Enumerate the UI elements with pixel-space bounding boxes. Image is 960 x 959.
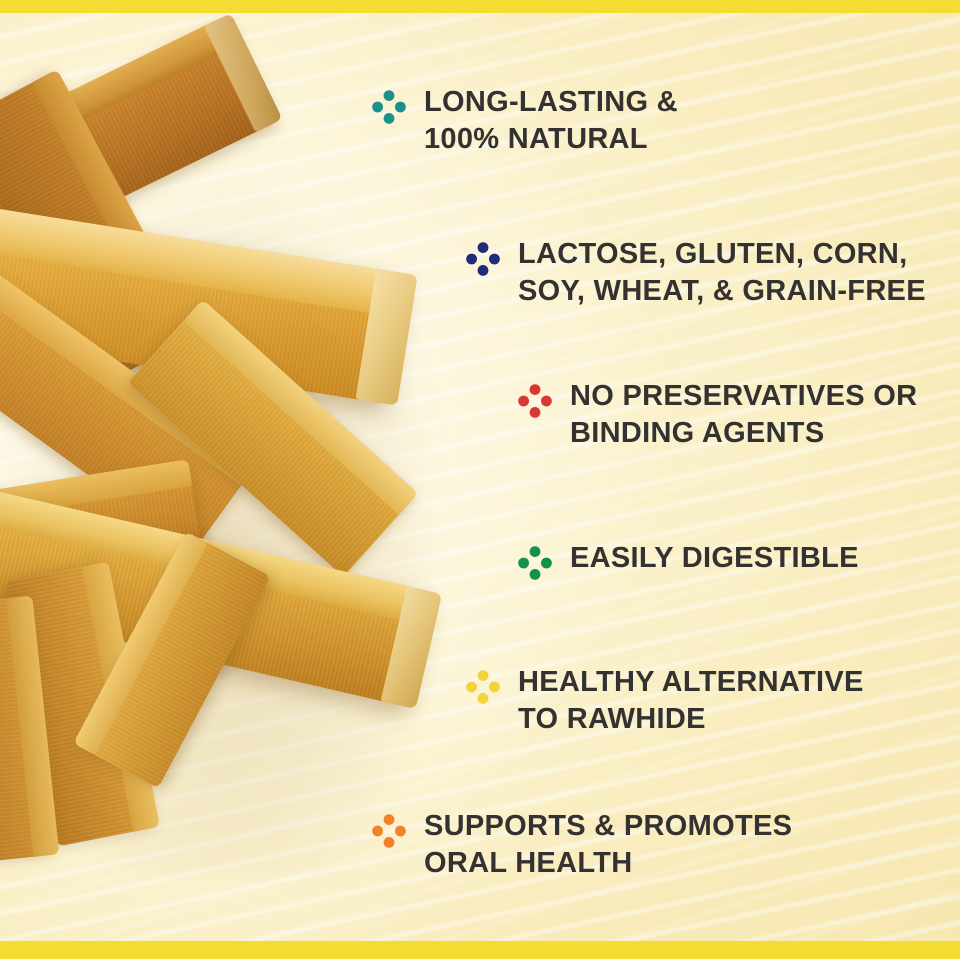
paw-icon <box>518 384 552 418</box>
benefit-label: LACTOSE, GLUTEN, CORN, SOY, WHEAT, & GRA… <box>518 236 926 309</box>
benefit-item-long-lasting-natural[interactable]: LONG-LASTING & 100% NATURAL <box>372 84 678 157</box>
paw-icon <box>372 814 406 848</box>
bottom-accent-bar <box>0 941 960 959</box>
benefit-item-no-preservatives[interactable]: NO PRESERVATIVES OR BINDING AGENTS <box>518 378 917 451</box>
product-benefits-poster: LONG-LASTING & 100% NATURAL LACTOSE, GLU… <box>0 0 960 959</box>
top-accent-bar <box>0 0 960 13</box>
benefit-label: SUPPORTS & PROMOTES ORAL HEALTH <box>424 808 792 881</box>
paw-icon <box>466 670 500 704</box>
paw-icon <box>518 546 552 580</box>
benefit-label: NO PRESERVATIVES OR BINDING AGENTS <box>570 378 917 451</box>
benefit-label: HEALTHY ALTERNATIVE TO RAWHIDE <box>518 664 864 737</box>
benefit-label: EASILY DIGESTIBLE <box>570 540 859 577</box>
benefit-label: LONG-LASTING & 100% NATURAL <box>424 84 678 157</box>
benefit-item-rawhide-alternative[interactable]: HEALTHY ALTERNATIVE TO RAWHIDE <box>466 664 864 737</box>
benefit-item-easily-digestible[interactable]: EASILY DIGESTIBLE <box>518 540 859 580</box>
paw-icon <box>372 90 406 124</box>
paw-icon <box>466 242 500 276</box>
benefit-item-oral-health[interactable]: SUPPORTS & PROMOTES ORAL HEALTH <box>372 808 792 881</box>
benefit-item-allergen-free[interactable]: LACTOSE, GLUTEN, CORN, SOY, WHEAT, & GRA… <box>466 236 926 309</box>
